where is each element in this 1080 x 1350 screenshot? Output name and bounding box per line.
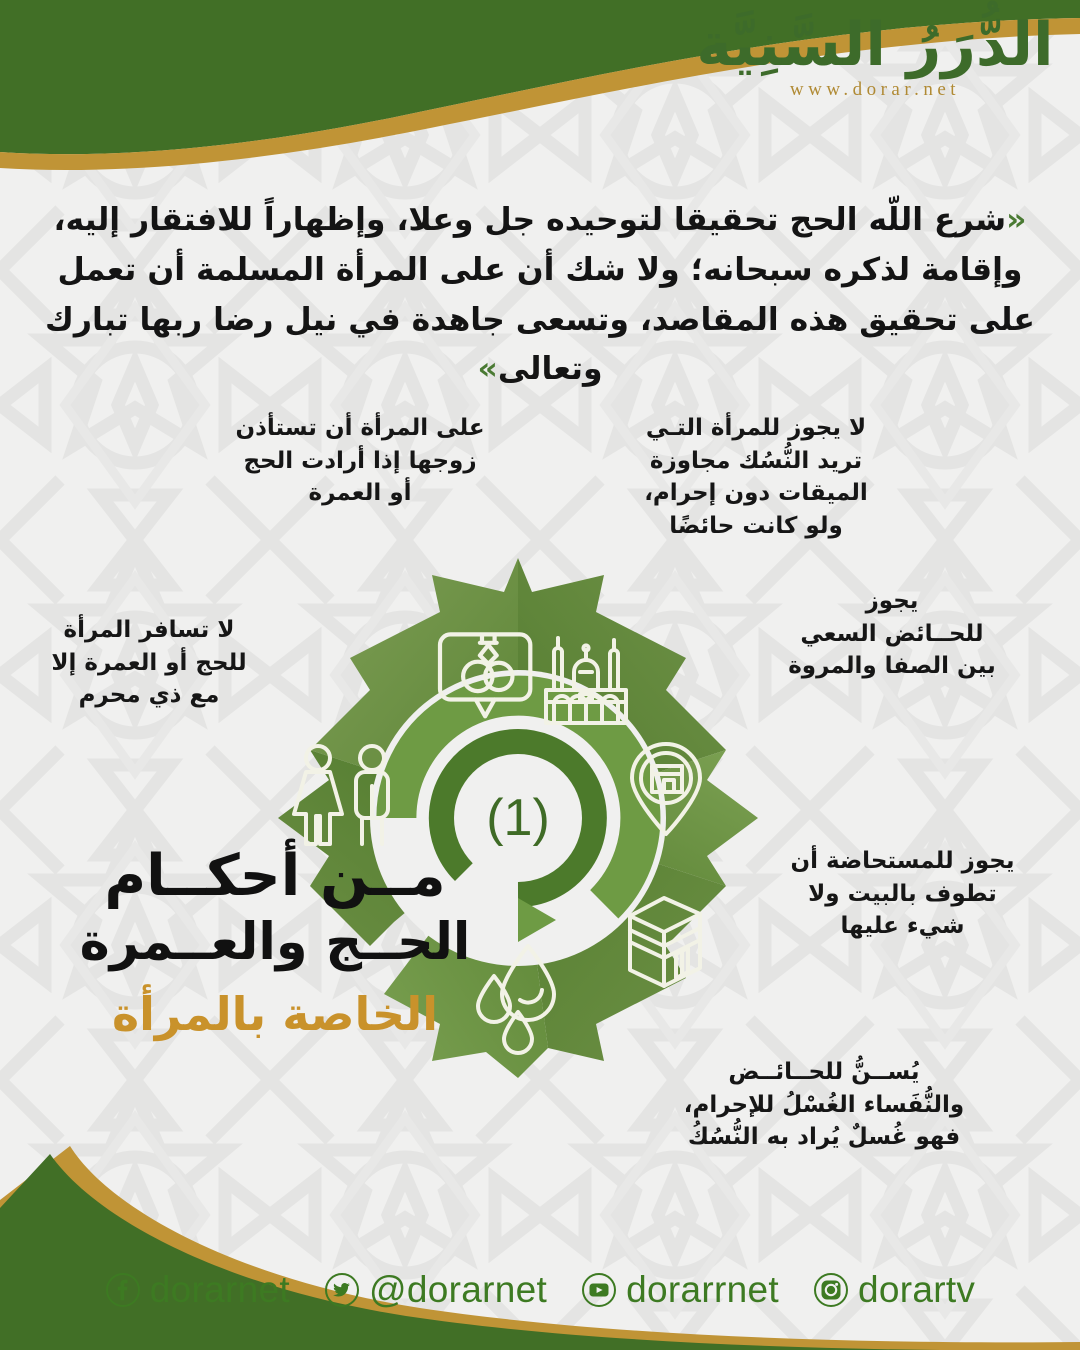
callout-1-line-3: أو العمرة — [205, 477, 515, 510]
main-title: مــن أحكــام الحــج والعــمرة الخاصة بال… — [60, 845, 490, 1042]
callout-label-3: يجوز للحــائض السعي بين الصفا والمروة — [744, 585, 1040, 683]
callout-label-5: يُســنُّ للحــائــض والنُّفَساء الغُسْلُ… — [604, 1056, 1044, 1154]
quote-open-mark: « — [1006, 202, 1026, 238]
social-youtube[interactable]: dorarrnet — [581, 1269, 779, 1311]
quote-close-mark: » — [477, 351, 497, 387]
infographic-canvas: الدُّرَرُ السَّنِيَّة www.dorar.net «شرع… — [0, 0, 1080, 1350]
callout-5-line-3: فهو غُسلٌ يُراد به النُّسُكُ — [604, 1121, 1044, 1154]
social-instagram[interactable]: dorartv — [813, 1269, 975, 1311]
title-line-3: الخاصة بالمرأة — [60, 987, 490, 1042]
callout-label-2: لا يجوز للمرأة التـي تريد النُّسُك مجاوز… — [606, 412, 906, 543]
callout-3-line-1: يجوز — [744, 585, 1040, 618]
social-facebook[interactable]: dorarnet — [105, 1269, 290, 1311]
title-line-2: الحــج والعــمرة — [60, 913, 490, 973]
callout-3-line-2: للحــائض السعي — [744, 618, 1040, 651]
twitter-handle[interactable]: @dorarnet — [369, 1269, 547, 1311]
facebook-icon[interactable] — [105, 1272, 141, 1308]
callout-3-line-3: بين الصفا والمروة — [744, 650, 1040, 683]
callout-label-1: على المرأة أن تستأذن زوجها إذا أرادت الح… — [205, 412, 515, 510]
site-logo: الدُّرَرُ السَّنِيَّة www.dorar.net — [690, 14, 1060, 134]
callout-2-line-3: الميقات دون إحرام، — [606, 477, 906, 510]
callout-4-line-1: يجوز للمستحاضة أن — [760, 845, 1045, 878]
callout-label-6: لا تسافر المرأة للحج أو العمرة إلا مع ذي… — [20, 614, 278, 712]
quote-body: شرع اللّه الحج تحقيقا لتوحيده جل وعلا، و… — [45, 202, 1035, 387]
intro-quote: «شرع اللّه الحج تحقيقا لتوحيده جل وعلا، … — [34, 196, 1046, 395]
youtube-handle[interactable]: dorarrnet — [626, 1269, 779, 1311]
callout-label-4: يجوز للمستحاضة أن تطوف بالبيت ولا شيء عل… — [760, 845, 1045, 943]
logo-arabic-text: الدُّرَرُ السَّنِيَّة — [690, 14, 1060, 77]
callout-2-line-1: لا يجوز للمرأة التـي — [606, 412, 906, 445]
callout-6-line-1: لا تسافر المرأة — [20, 614, 278, 647]
social-twitter[interactable]: @dorarnet — [324, 1269, 547, 1311]
twitter-icon[interactable] — [324, 1272, 360, 1308]
logo-website-url: www.dorar.net — [690, 79, 1060, 101]
instagram-handle[interactable]: dorartv — [858, 1269, 975, 1311]
callout-2-line-2: تريد النُّسُك مجاوزة — [606, 445, 906, 478]
callout-5-line-2: والنُّفَساء الغُسْلُ للإحرام، — [604, 1089, 1044, 1122]
callout-6-line-2: للحج أو العمرة إلا — [20, 647, 278, 680]
callout-6-line-3: مع ذي محرم — [20, 679, 278, 712]
callout-2-line-4: ولو كانت حائضًا — [606, 510, 906, 543]
callout-5-line-1: يُســنُّ للحــائــض — [604, 1056, 1044, 1089]
callout-4-line-2: تطوف بالبيت ولا — [760, 878, 1045, 911]
callout-1-line-1: على المرأة أن تستأذن — [205, 412, 515, 445]
instagram-icon[interactable] — [813, 1272, 849, 1308]
center-number: (1) — [486, 789, 550, 847]
title-line-1: مــن أحكــام — [60, 845, 490, 909]
social-media-bar: dorarnet @dorarnet dorarrnet — [0, 1260, 1080, 1320]
facebook-handle[interactable]: dorarnet — [150, 1269, 290, 1311]
callout-4-line-3: شيء عليها — [760, 910, 1045, 943]
callout-1-line-2: زوجها إذا أرادت الحج — [205, 445, 515, 478]
youtube-icon[interactable] — [581, 1272, 617, 1308]
